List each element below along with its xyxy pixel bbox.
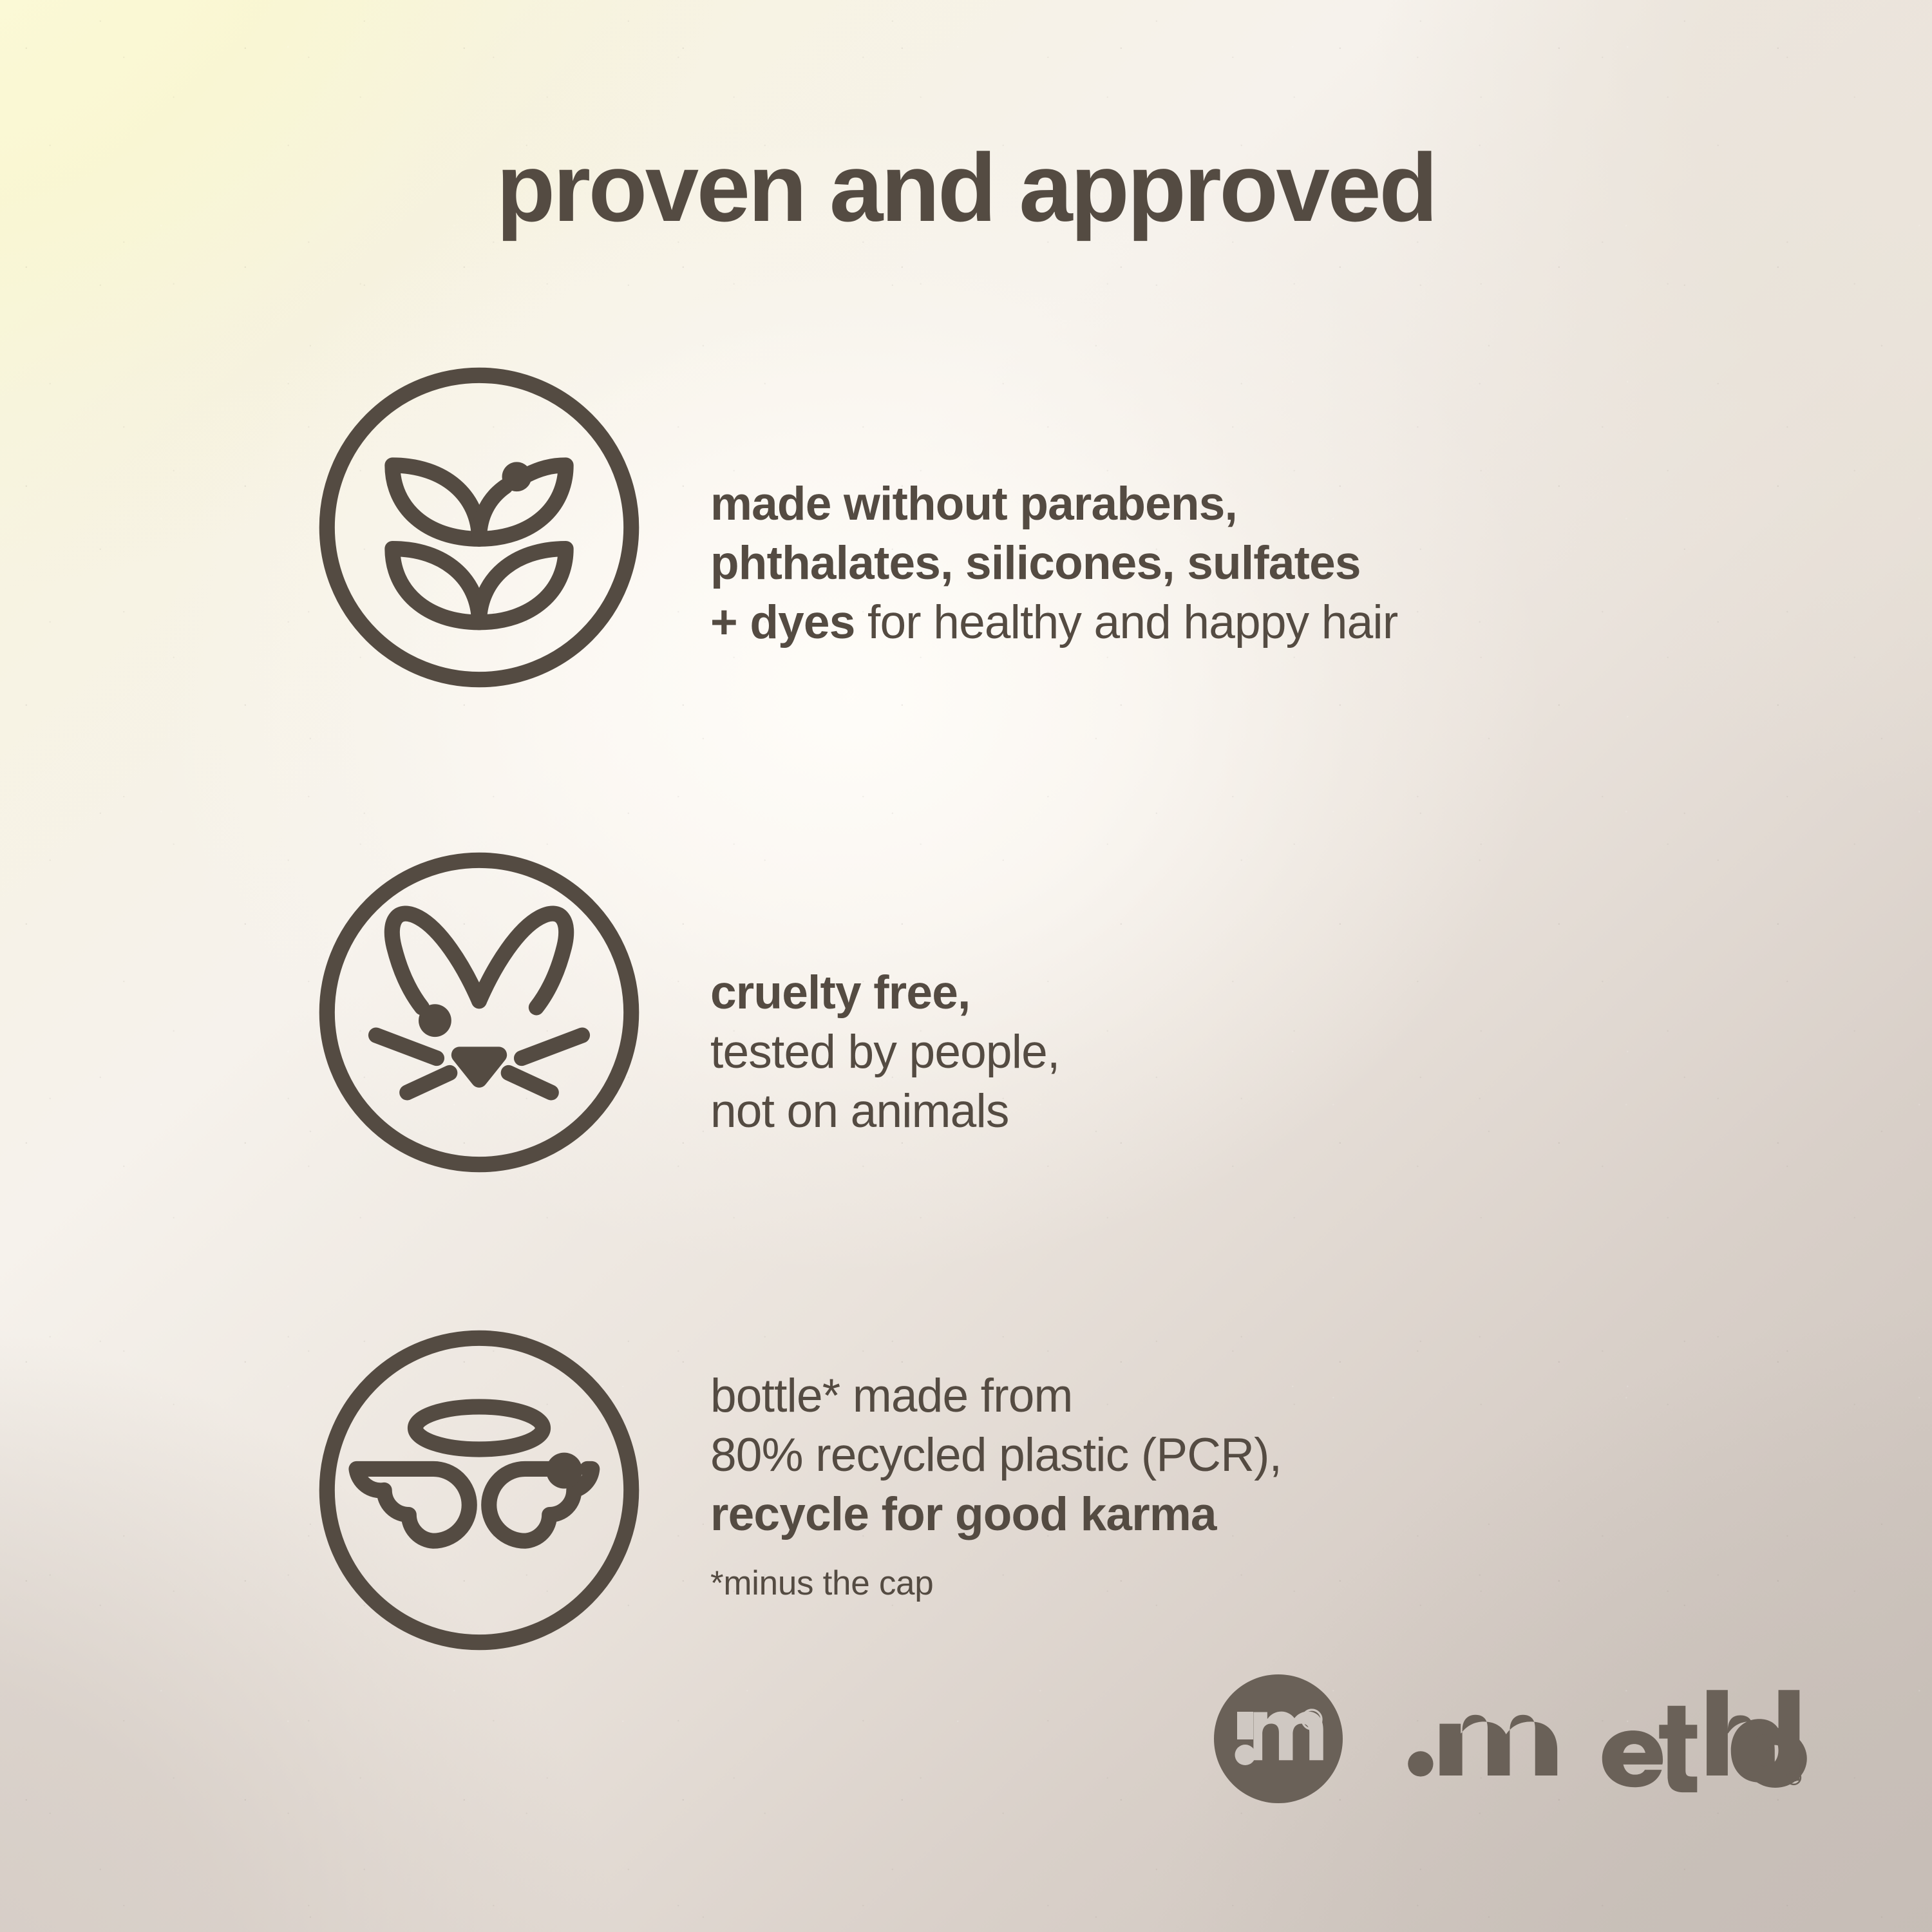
claim-text-recycled-bottle: bottle* made from 80% recycled plastic (… (710, 1327, 1282, 1604)
claim-footnote: *minus the cap (710, 1564, 1282, 1604)
claim-line: tested by people, (710, 1023, 1059, 1082)
claim-line: recycle for good karma (710, 1485, 1282, 1544)
dew-drop-dot (502, 462, 532, 491)
svg-text:R: R (1791, 1774, 1797, 1783)
claim-row-cruelty-free: cruelty free, tested by people, not on a… (316, 849, 1059, 1176)
method-circle-logo-icon: R (1214, 1674, 1343, 1803)
claim-line: made without parabens, (710, 475, 1397, 534)
claim-text-cruelty-free: cruelty free, tested by people, not on a… (710, 849, 1059, 1141)
bunny-icon (316, 849, 643, 1176)
claim-line: phthalates, silicones, sulfates (710, 534, 1397, 593)
bunny-eye-dot (419, 1004, 451, 1037)
wing-sparkle-dot (546, 1453, 582, 1489)
claim-line: bottle* made from (710, 1367, 1282, 1426)
bunny-nose (451, 1046, 507, 1088)
method-wordmark: R (1405, 1685, 1810, 1793)
claim-line: not on animals (710, 1082, 1059, 1141)
claim-row-recycled-bottle: bottle* made from 80% recycled plastic (… (316, 1327, 1282, 1654)
claim-line: cruelty free, (710, 963, 1059, 1023)
poster-canvas: proven and approved made without paraben… (0, 0, 1932, 1932)
page-title: proven and approved (0, 139, 1932, 236)
svg-text:R: R (1308, 1714, 1316, 1727)
claim-line: + dyes for healthy and happy hair (710, 593, 1397, 652)
plant-sprout-icon (316, 364, 643, 691)
claim-text-ingredients: made without parabens, phthalates, silic… (710, 364, 1397, 652)
brand-lockup: R R (1214, 1674, 1810, 1803)
claim-line: 80% recycled plastic (PCR), (710, 1426, 1282, 1485)
angel-wings-icon (316, 1327, 643, 1654)
claim-row-ingredients: made without parabens, phthalates, silic… (316, 364, 1397, 691)
